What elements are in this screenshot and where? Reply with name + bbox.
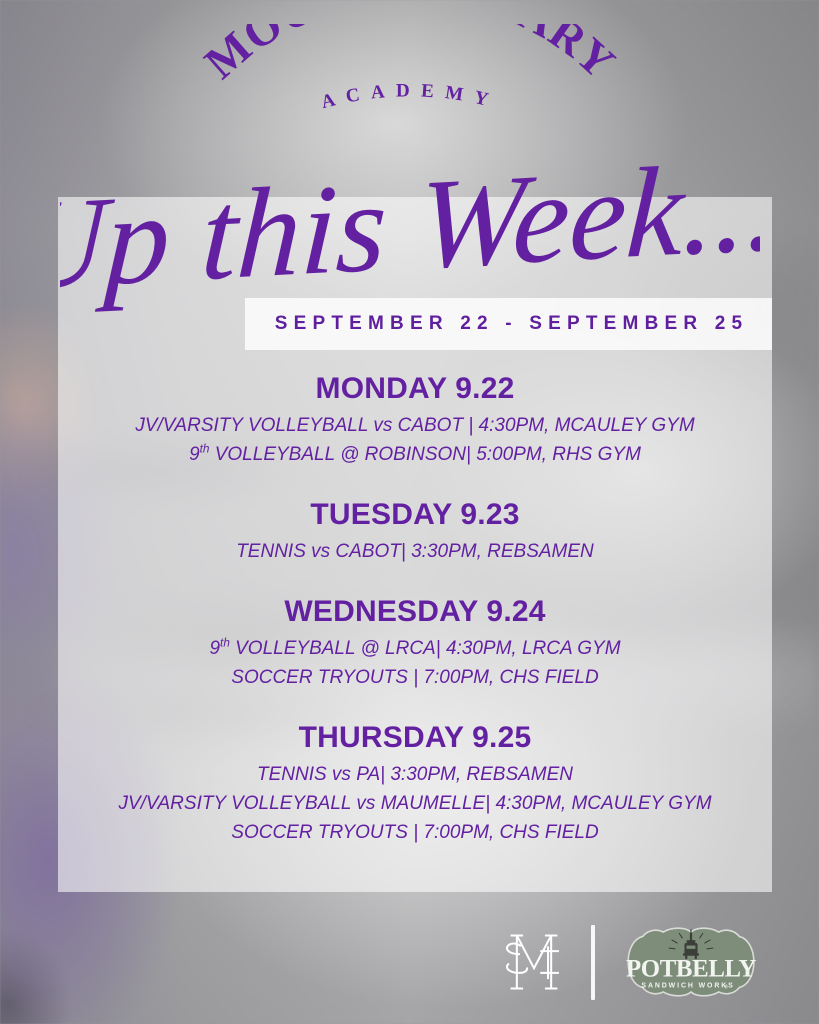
potbelly-sponsor-logo: POTBELLY SANDWICH WORKS ® [617, 924, 765, 1000]
day-block-monday: MONDAY 9.22 JV/VARSITY VOLLEYBALL vs CAB… [58, 370, 772, 470]
school-subtitle-arched: ACADEMY [319, 80, 501, 113]
footer-divider [591, 925, 595, 1000]
event-line: JV/VARSITY VOLLEYBALL vs MAUMELLE| 4:30P… [58, 790, 772, 819]
day-title: WEDNESDAY 9.24 [58, 593, 772, 630]
event-prefix: 9 [209, 638, 220, 659]
event-line: JV/VARSITY VOLLEYBALL vs CABOT | 4:30PM,… [58, 412, 772, 441]
event-text: JV/VARSITY VOLLEYBALL vs MAUMELLE| 4:30P… [118, 793, 711, 814]
event-text: TENNIS vs CABOT| 3:30PM, REBSAMEN [236, 541, 594, 562]
day-title: TUESDAY 9.23 [58, 496, 772, 533]
event-text: JV/VARSITY VOLLEYBALL vs CABOT | 4:30PM,… [135, 415, 694, 436]
date-range-text: SEPTEMBER 22 - SEPTEMBER 25 [269, 313, 749, 335]
event-line: SOCCER TRYOUTS | 7:00PM, CHS FIELD [58, 664, 772, 693]
footer-logos: POTBELLY SANDWICH WORKS ® [495, 912, 795, 1012]
day-title: MONDAY 9.22 [58, 370, 772, 407]
event-line: TENNIS vs CABOT| 3:30PM, REBSAMEN [58, 538, 772, 567]
msm-monogram-icon [495, 922, 573, 1002]
potbelly-registered-mark: ® [724, 983, 728, 990]
event-line: 9th VOLLEYBALL @ LRCA| 4:30PM, LRCA GYM [58, 635, 772, 664]
day-title: THURSDAY 9.25 [58, 719, 772, 756]
event-line: TENNIS vs PA| 3:30PM, REBSAMEN [58, 761, 772, 790]
event-text: SOCCER TRYOUTS | 7:00PM, CHS FIELD [231, 667, 598, 688]
day-block-thursday: THURSDAY 9.25 TENNIS vs PA| 3:30PM, REBS… [58, 719, 772, 848]
school-logo-arch-icon: MOUNT ST. MARY ACADEMY [170, 24, 650, 132]
potbelly-tagline: SANDWICH WORKS [641, 983, 734, 990]
day-block-wednesday: WEDNESDAY 9.24 9th VOLLEYBALL @ LRCA| 4:… [58, 593, 772, 693]
event-text: SOCCER TRYOUTS | 7:00PM, CHS FIELD [231, 822, 598, 843]
event-text: VOLLEYBALL @ ROBINSON| 5:00PM, RHS GYM [209, 444, 640, 465]
potbelly-wordmark: POTBELLY [626, 956, 756, 983]
event-ordinal-suffix: th [200, 443, 210, 456]
school-name-arched: MOUNT ST. MARY [194, 24, 625, 89]
event-prefix: 9 [189, 444, 200, 465]
day-block-tuesday: TUESDAY 9.23 TENNIS vs CABOT| 3:30PM, RE… [58, 496, 772, 567]
event-text: VOLLEYBALL @ LRCA| 4:30PM, LRCA GYM [230, 638, 621, 659]
school-logo: MOUNT ST. MARY ACADEMY [0, 24, 819, 134]
weekly-schedule: MONDAY 9.22 JV/VARSITY VOLLEYBALL vs CAB… [58, 370, 772, 848]
event-line: SOCCER TRYOUTS | 7:00PM, CHS FIELD [58, 819, 772, 848]
event-ordinal-suffix: th [220, 637, 230, 650]
event-text: TENNIS vs PA| 3:30PM, REBSAMEN [257, 764, 573, 785]
event-line: 9th VOLLEYBALL @ ROBINSON| 5:00PM, RHS G… [58, 441, 772, 470]
poster: MOUNT ST. MARY ACADEMY Up this Week... S… [0, 0, 819, 1024]
date-range-band: SEPTEMBER 22 - SEPTEMBER 25 [245, 298, 772, 350]
